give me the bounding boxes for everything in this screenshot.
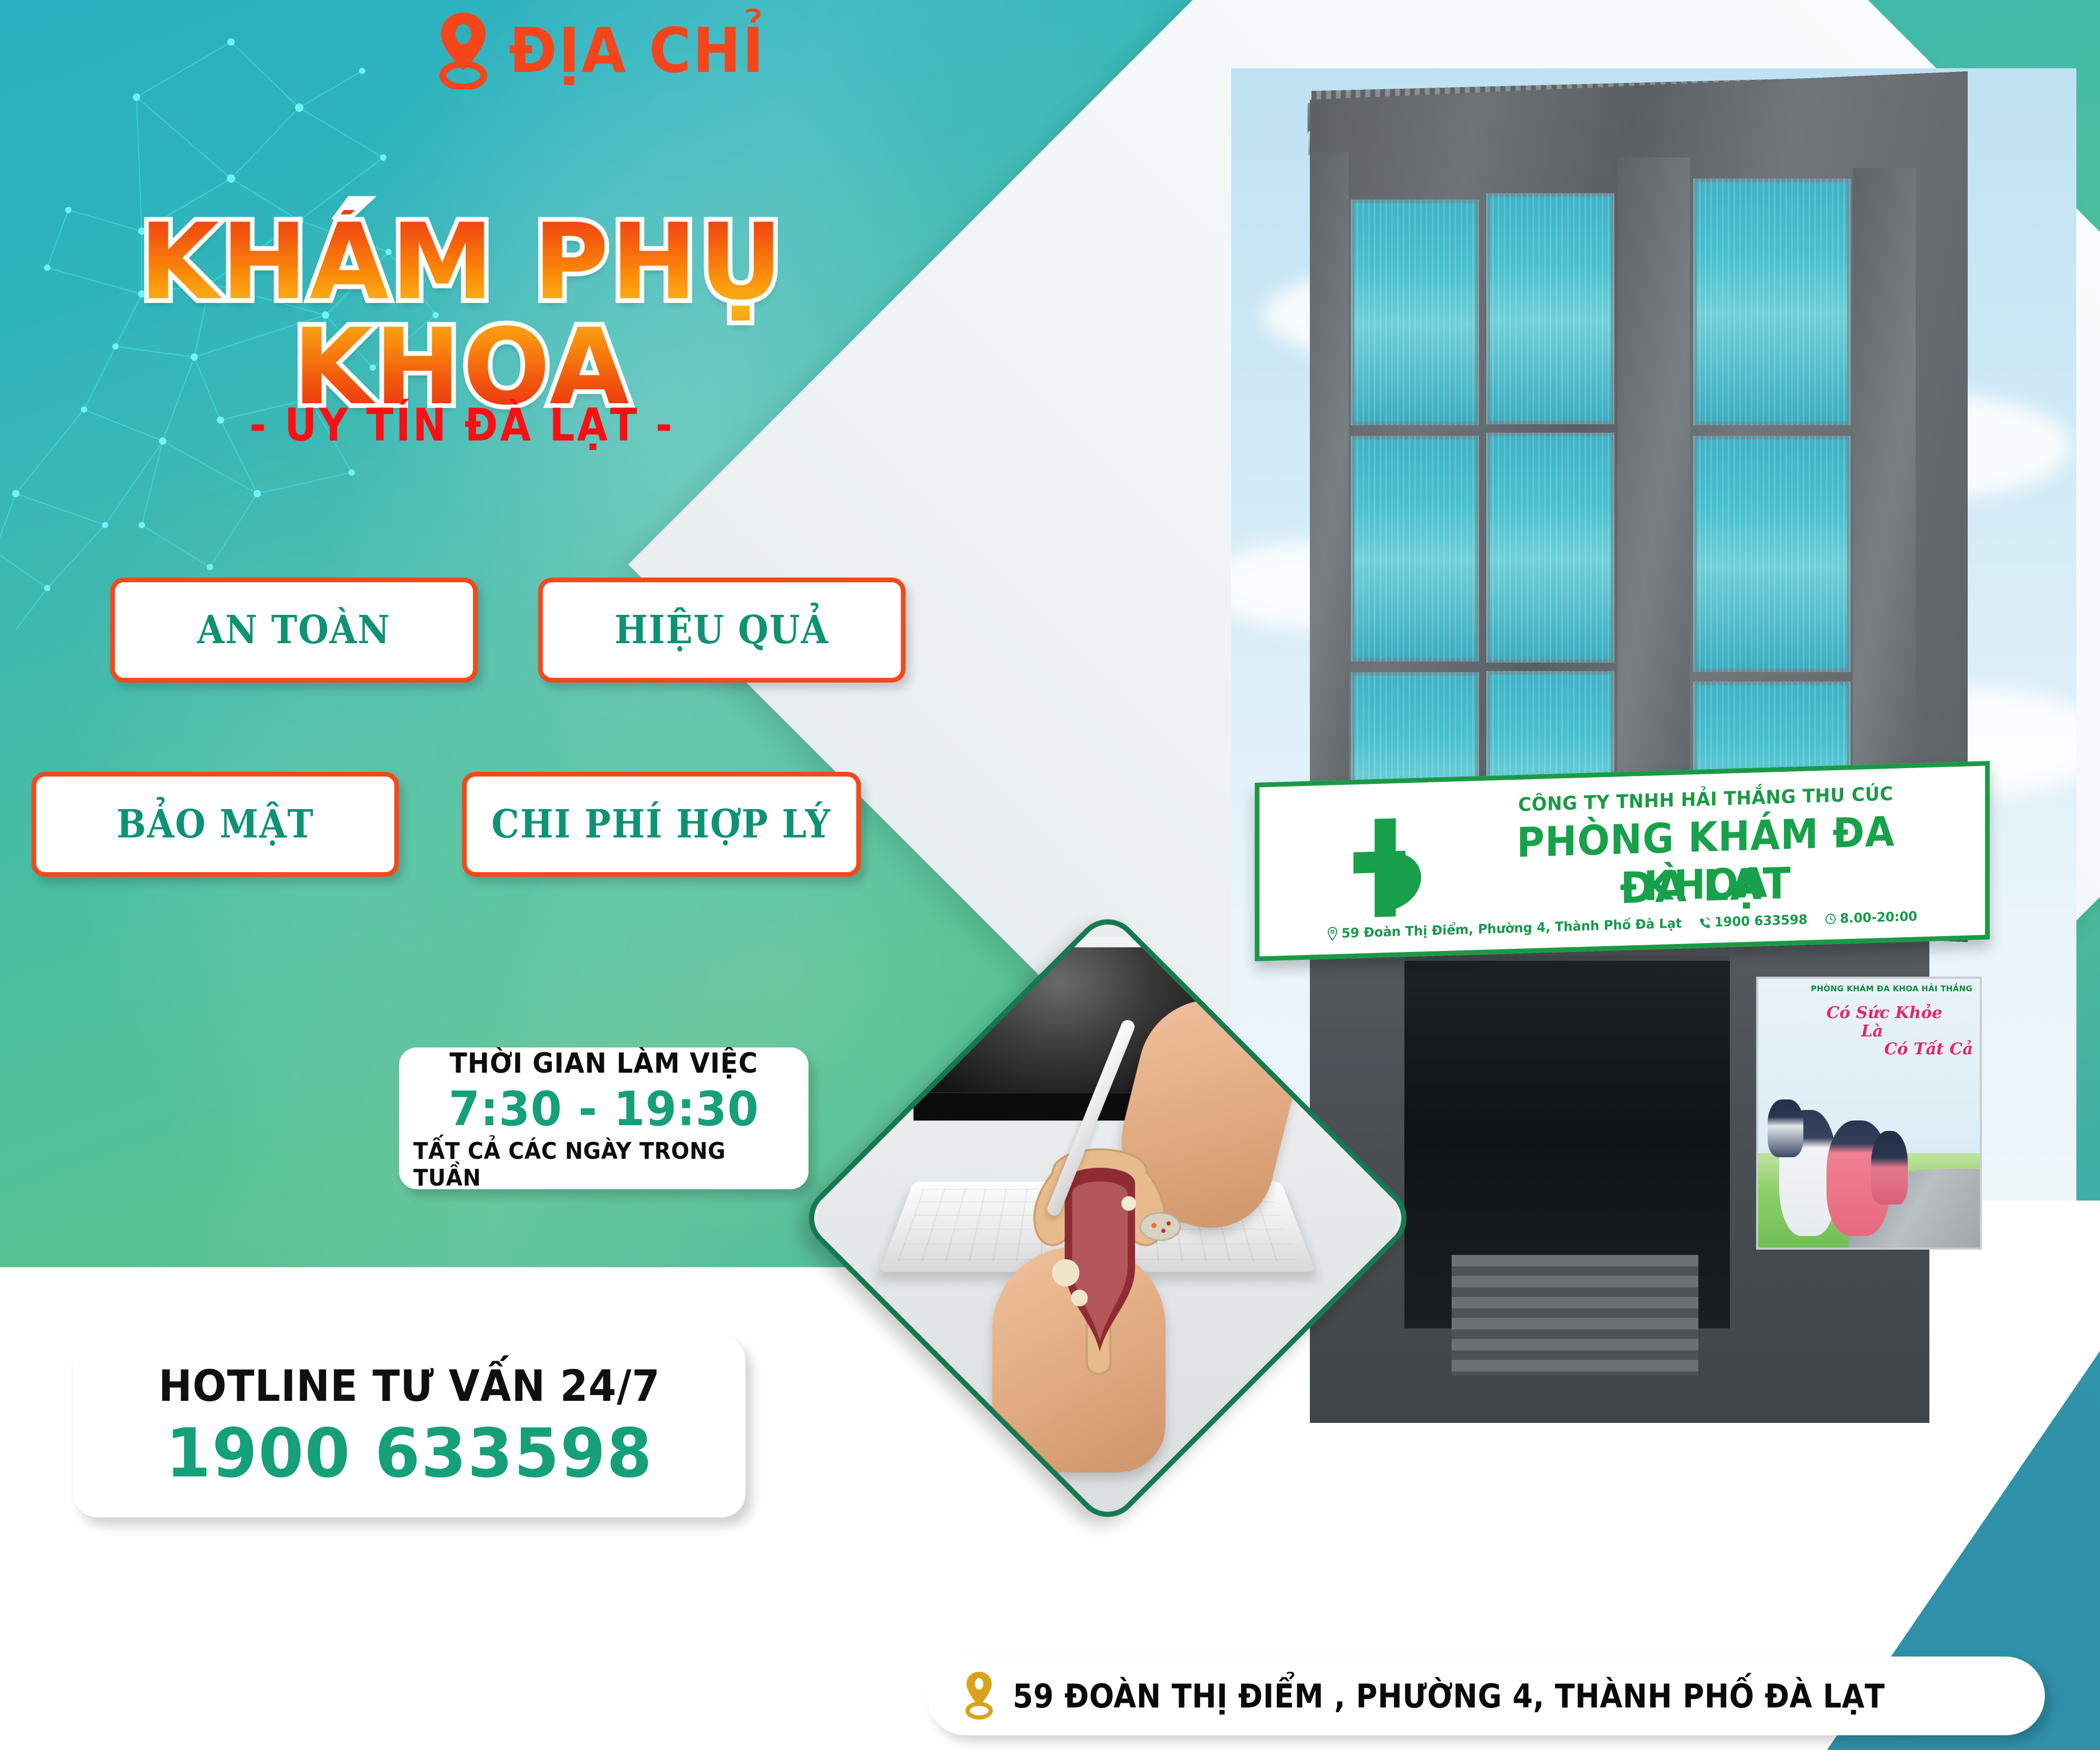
address-heading: ĐỊA CHỈ <box>436 12 784 89</box>
hotline-card[interactable]: HOTLINE TƯ VẤN 24/7 1900 633598 <box>73 1336 745 1517</box>
feature-chip-label: CHI PHÍ HỢP LÝ <box>491 802 831 847</box>
hero-title-fill: KHÁM PHỤ KHOA <box>50 210 874 420</box>
hotline-number[interactable]: 1900 633598 <box>166 1414 653 1493</box>
banner-root: PHÒNG KHÁM ĐA KHOA HẢI THẮNG Có Sức Khỏe… <box>0 0 2100 1750</box>
footer-address-text: 59 ĐOÀN THỊ ĐIỂM , PHƯỜNG 4, THÀNH PHỐ Đ… <box>1013 1677 1885 1715</box>
uterus-model-icon <box>1003 1110 1197 1388</box>
entrance-poster: PHÒNG KHÁM ĐA KHOA HẢI THẮNG Có Sức Khỏe… <box>1756 977 1982 1250</box>
footer-address-bar: 59 ĐOÀN THỊ ĐIỂM , PHƯỜNG 4, THÀNH PHỐ Đ… <box>927 1657 2045 1735</box>
location-pin-icon <box>436 12 491 89</box>
poster-slogan-line3: Có Tất Cả <box>1826 1040 1979 1059</box>
phone-icon <box>1699 917 1710 929</box>
poster-slogan: Có Sức Khỏe Là Có Tất Cả <box>1826 1004 1979 1059</box>
sign-hours: 8.00-20:00 <box>1840 908 1917 926</box>
address-heading-label: ĐỊA CHỈ <box>509 19 765 81</box>
hero-subtitle: - UY TÍN ĐÀ LẠT - <box>92 399 832 452</box>
feature-chip-bao-mat[interactable]: BẢO MẬT <box>31 772 399 877</box>
location-pin-icon <box>1327 927 1337 941</box>
feature-chip-label: HIỆU QUẢ <box>615 607 829 653</box>
feature-chip-chi-phi-hop-ly[interactable]: CHI PHÍ HỢP LÝ <box>462 772 861 877</box>
feature-chip-an-toan[interactable]: AN TOÀN <box>110 578 478 683</box>
poster-slogan-line1: Có Sức Khỏe <box>1826 1003 1942 1022</box>
medical-cross-leaf-icon <box>1338 809 1438 928</box>
working-hours-label: THỜI GIAN LÀM VIỆC <box>449 1047 758 1080</box>
working-hours-value: 7:30 - 19:30 <box>448 1082 759 1137</box>
clock-icon <box>1825 913 1836 925</box>
location-pin-icon <box>963 1671 995 1721</box>
hero-title: KHÁM PHỤ KHOA KHÁM PHỤ KHOA <box>42 210 882 336</box>
feature-chip-label: BẢO MẬT <box>117 802 314 847</box>
feature-chip-hieu-qua[interactable]: HIỆU QUẢ <box>538 578 906 683</box>
feature-chip-label: AN TOÀN <box>197 607 391 653</box>
working-hours-card: THỜI GIAN LÀM VIỆC 7:30 - 19:30 TẤT CẢ C… <box>399 1047 808 1189</box>
sign-phone: 1900 633598 <box>1715 912 1808 930</box>
poster-brand-label: PHÒNG KHÁM ĐA KHOA HẢI THẮNG <box>1811 984 1972 993</box>
clinic-signboard: CÔNG TY TNHH HẢI THẮNG THU CÚC PHÒNG KHÁ… <box>1255 761 1990 961</box>
working-hours-note: TẤT CẢ CÁC NGÀY TRONG TUẦN <box>413 1138 794 1191</box>
poster-slogan-line2: Là <box>1826 1022 1979 1041</box>
hotline-label: HOTLINE TƯ VẤN 24/7 <box>159 1361 660 1411</box>
left-content-column: ĐỊA CHỈ KHÁM PHỤ KHOA KHÁM PHỤ KHOA - UY… <box>0 0 924 1750</box>
